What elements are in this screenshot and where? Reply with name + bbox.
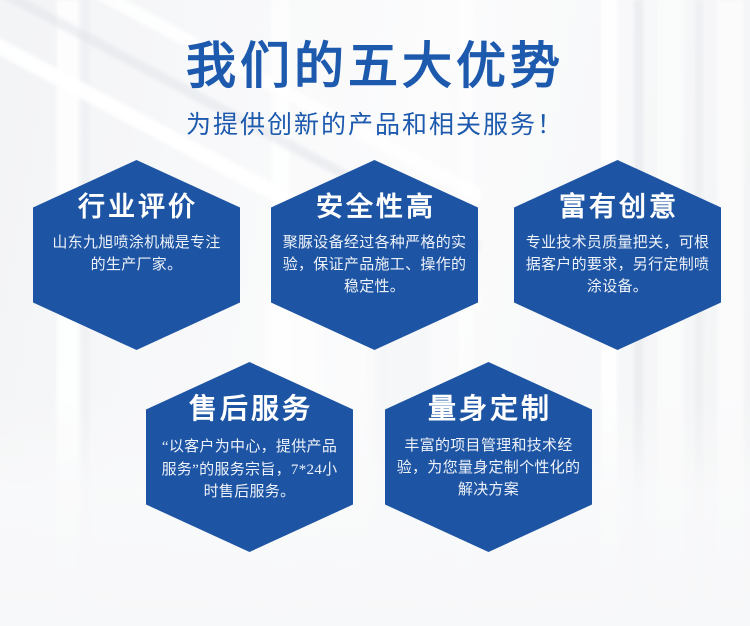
advantage-body: “以客户为中心，提供产品服务”的服务宗旨，7*24小时售后服务。 bbox=[155, 436, 345, 504]
advantage-card-high-safety[interactable]: 安全性高 聚脲设备经过各种严格的实验，保证产品施工、操作的稳定性。 bbox=[271, 160, 478, 350]
advantage-body: 山东九旭喷涂机械是专注的生产厂家。 bbox=[48, 233, 226, 277]
advantage-title: 安全性高 bbox=[313, 194, 436, 221]
advantage-title: 量身定制 bbox=[425, 396, 552, 424]
page-subtitle: 为提供创新的产品和相关服务！ bbox=[0, 105, 750, 141]
heading-block: 我们的五大优势 为提供创新的产品和相关服务！ bbox=[0, 40, 750, 141]
page-title: 我们的五大优势 bbox=[0, 40, 750, 93]
advantage-card-industry-evaluation[interactable]: 行业评价 山东九旭喷涂机械是专注的生产厂家。 bbox=[33, 160, 240, 350]
advantage-title: 售后服务 bbox=[186, 396, 313, 424]
advantage-card-after-sales-service[interactable]: 售后服务 “以客户为中心，提供产品服务”的服务宗旨，7*24小时售后服务。 bbox=[146, 362, 353, 552]
advantage-body: 丰富的项目管理和技术经验，为您量身定制个性化的解决方案 bbox=[394, 436, 584, 501]
advantage-title: 富有创意 bbox=[556, 194, 679, 221]
advantage-body: 专业技术员质量把关，可根据客户的要求，另行定制喷涂设备。 bbox=[525, 233, 711, 298]
advantage-card-creative[interactable]: 富有创意 专业技术员质量把关，可根据客户的要求，另行定制喷涂设备。 bbox=[514, 160, 721, 350]
advantage-body: 聚脲设备经过各种严格的实验，保证产品施工、操作的稳定性。 bbox=[282, 233, 468, 298]
advantage-title: 行业评价 bbox=[75, 194, 198, 221]
advantage-card-tailor-made[interactable]: 量身定制 丰富的项目管理和技术经验，为您量身定制个性化的解决方案 bbox=[385, 362, 592, 552]
advantages-banner: 我们的五大优势 为提供创新的产品和相关服务！ 行业评价 山东九旭喷涂机械是专注的… bbox=[0, 0, 750, 626]
